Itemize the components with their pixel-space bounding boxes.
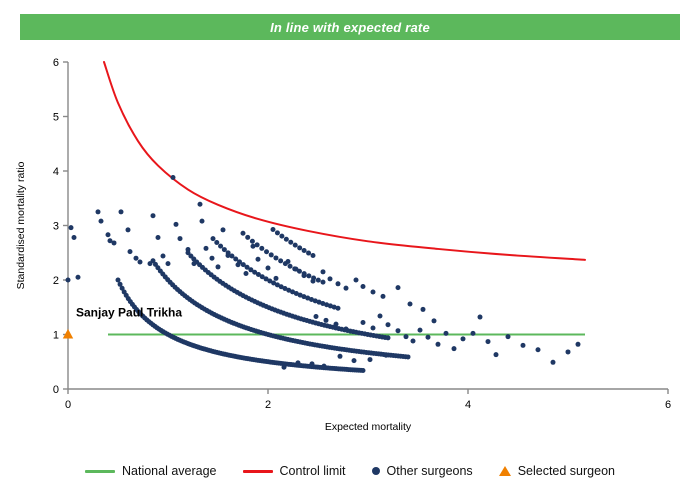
data-point bbox=[256, 257, 261, 262]
data-point bbox=[222, 247, 227, 252]
data-point bbox=[161, 254, 166, 259]
data-point bbox=[322, 364, 327, 369]
red-line-icon bbox=[243, 470, 273, 473]
data-point bbox=[241, 231, 246, 236]
data-point bbox=[536, 347, 541, 352]
data-point bbox=[288, 240, 293, 245]
data-point bbox=[478, 315, 483, 320]
data-point bbox=[426, 335, 431, 340]
data-point bbox=[432, 318, 437, 323]
data-point bbox=[156, 235, 161, 240]
data-point bbox=[66, 278, 71, 283]
data-point bbox=[551, 360, 556, 365]
data-point bbox=[316, 278, 321, 283]
data-point bbox=[344, 327, 349, 332]
data-point bbox=[361, 284, 366, 289]
data-point bbox=[250, 239, 255, 244]
data-point bbox=[378, 313, 383, 318]
data-point bbox=[521, 343, 526, 348]
data-point bbox=[148, 261, 153, 266]
legend-label: National average bbox=[122, 464, 217, 478]
data-point bbox=[352, 358, 357, 363]
y-tick-label: 0 bbox=[53, 384, 59, 396]
data-point bbox=[404, 334, 409, 339]
series-scatter-selected-surgeon bbox=[63, 329, 73, 339]
navy-dot-icon bbox=[372, 467, 380, 475]
data-point bbox=[486, 339, 491, 344]
x-tick-label: 2 bbox=[265, 399, 271, 411]
plot-svg: 01234560246Expected mortalityStandardise… bbox=[0, 0, 700, 500]
data-point bbox=[112, 240, 117, 245]
legend-label: Other surgeons bbox=[387, 464, 473, 478]
data-point bbox=[421, 307, 426, 312]
data-point bbox=[286, 259, 291, 264]
data-point bbox=[269, 252, 274, 257]
data-point bbox=[334, 322, 339, 327]
data-point bbox=[245, 235, 250, 240]
data-point bbox=[214, 240, 219, 245]
data-point bbox=[381, 294, 386, 299]
data-point bbox=[311, 279, 316, 284]
data-point bbox=[354, 278, 359, 283]
selected-surgeon-label: Sanjay Paul Trikha bbox=[76, 306, 182, 320]
data-point bbox=[338, 354, 343, 359]
series-scatter-other-surgeons bbox=[66, 175, 581, 373]
funnel-chart-root: In line with expected rate 01234560246Ex… bbox=[0, 0, 700, 500]
data-point bbox=[204, 246, 209, 251]
data-point bbox=[259, 246, 264, 251]
data-point bbox=[461, 336, 466, 341]
data-point bbox=[69, 225, 74, 230]
data-point bbox=[96, 209, 101, 214]
data-point bbox=[321, 269, 326, 274]
data-point bbox=[324, 318, 329, 323]
y-tick-label: 3 bbox=[53, 221, 59, 233]
data-point bbox=[288, 264, 293, 269]
data-point bbox=[371, 325, 376, 330]
data-point bbox=[297, 245, 302, 250]
y-tick-label: 6 bbox=[53, 57, 59, 69]
data-point bbox=[279, 234, 284, 239]
data-point bbox=[274, 276, 279, 281]
green-line-icon bbox=[85, 470, 115, 473]
data-point bbox=[151, 213, 156, 218]
data-point bbox=[506, 334, 511, 339]
orange-triangle-icon bbox=[499, 466, 511, 476]
data-point bbox=[294, 267, 299, 272]
data-point bbox=[126, 227, 131, 232]
y-tick-label: 4 bbox=[53, 166, 59, 178]
legend-item-selected-surgeon[interactable]: Selected surgeon bbox=[499, 464, 615, 478]
data-point bbox=[174, 222, 179, 227]
data-point bbox=[134, 256, 139, 261]
series-layer bbox=[63, 62, 585, 373]
data-point bbox=[216, 264, 221, 269]
selected-surgeon-marker[interactable] bbox=[63, 329, 73, 339]
data-point bbox=[336, 306, 341, 311]
data-point bbox=[310, 361, 315, 366]
data-point bbox=[244, 271, 249, 276]
data-point bbox=[311, 253, 316, 258]
data-point bbox=[166, 261, 171, 266]
data-point bbox=[192, 261, 197, 266]
data-point bbox=[396, 285, 401, 290]
y-tick-label: 2 bbox=[53, 275, 59, 287]
data-point bbox=[211, 236, 216, 241]
data-point bbox=[116, 278, 121, 283]
legend-label: Selected surgeon bbox=[518, 464, 615, 478]
data-point bbox=[302, 248, 307, 253]
y-axis-title: Standardised mortality ratio bbox=[15, 161, 27, 289]
data-point bbox=[178, 236, 183, 241]
y-tick-label: 5 bbox=[53, 112, 59, 124]
data-point bbox=[128, 249, 133, 254]
data-point bbox=[321, 280, 326, 285]
data-point bbox=[328, 276, 333, 281]
data-point bbox=[282, 365, 287, 370]
data-point bbox=[384, 353, 389, 358]
data-point bbox=[273, 255, 278, 260]
data-point bbox=[471, 331, 476, 336]
data-point bbox=[218, 244, 223, 249]
data-point bbox=[576, 342, 581, 347]
data-point bbox=[271, 227, 276, 232]
data-point bbox=[198, 202, 203, 207]
data-point bbox=[236, 262, 241, 267]
data-point bbox=[418, 328, 423, 333]
data-point bbox=[106, 232, 111, 237]
data-point bbox=[336, 281, 341, 286]
data-point bbox=[411, 339, 416, 344]
data-point bbox=[344, 286, 349, 291]
data-point bbox=[408, 301, 413, 306]
data-point bbox=[221, 227, 226, 232]
data-point bbox=[296, 360, 301, 365]
x-axis-title: Expected mortality bbox=[325, 421, 412, 433]
data-point bbox=[138, 260, 143, 265]
chart-legend: National averageControl limitOther surge… bbox=[0, 464, 700, 478]
data-point bbox=[293, 243, 298, 248]
data-point bbox=[436, 342, 441, 347]
data-point bbox=[302, 273, 307, 278]
data-point bbox=[76, 275, 81, 280]
data-point bbox=[171, 175, 176, 180]
data-point bbox=[72, 235, 77, 240]
plot-area: 01234560246Expected mortalityStandardise… bbox=[0, 0, 700, 500]
legend-item-national-average[interactable]: National average bbox=[85, 464, 217, 478]
data-point bbox=[186, 247, 191, 252]
data-point bbox=[386, 335, 391, 340]
y-tick-label: 1 bbox=[53, 330, 59, 342]
data-point bbox=[314, 314, 319, 319]
data-point bbox=[368, 357, 373, 362]
data-point bbox=[200, 219, 205, 224]
data-point bbox=[361, 320, 366, 325]
data-point bbox=[226, 253, 231, 258]
legend-label: Control limit bbox=[280, 464, 346, 478]
data-point bbox=[119, 209, 124, 214]
x-tick-label: 6 bbox=[665, 399, 671, 411]
data-point bbox=[494, 352, 499, 357]
data-point bbox=[406, 354, 411, 359]
data-point bbox=[396, 328, 401, 333]
data-point bbox=[99, 219, 104, 224]
data-point bbox=[284, 237, 289, 242]
data-point bbox=[452, 346, 457, 351]
data-point bbox=[444, 331, 449, 336]
data-point bbox=[278, 258, 283, 263]
data-point bbox=[386, 322, 391, 327]
x-tick-label: 4 bbox=[465, 399, 471, 411]
data-point bbox=[210, 256, 215, 261]
data-point bbox=[266, 266, 271, 271]
data-point bbox=[566, 349, 571, 354]
legend-item-other-surgeons[interactable]: Other surgeons bbox=[372, 464, 473, 478]
annotation-layer: Sanjay Paul Trikha bbox=[76, 306, 182, 320]
data-point bbox=[251, 244, 256, 249]
x-tick-label: 0 bbox=[65, 399, 71, 411]
data-point bbox=[264, 249, 269, 254]
data-point bbox=[371, 289, 376, 294]
data-point bbox=[306, 273, 311, 278]
data-point bbox=[306, 251, 311, 256]
series-line-control-limit bbox=[104, 62, 585, 260]
data-point bbox=[361, 368, 366, 373]
legend-item-control-limit[interactable]: Control limit bbox=[243, 464, 346, 478]
data-point bbox=[275, 230, 280, 235]
